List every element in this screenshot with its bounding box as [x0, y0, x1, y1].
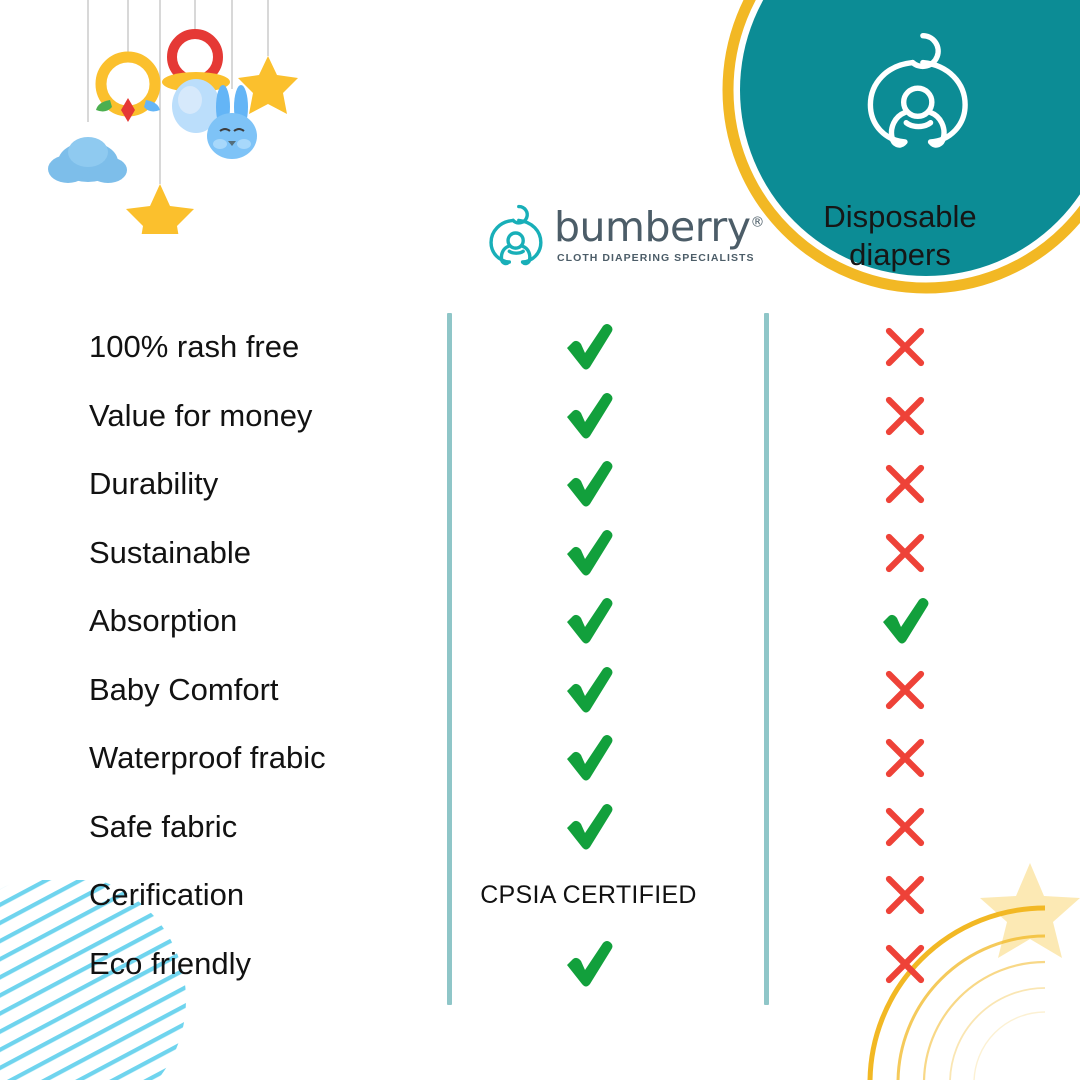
comparison-infographic: bumberry® CLOTH DIAPERING SPECIALISTS Di…: [0, 0, 1080, 1080]
check-icon: [563, 393, 615, 439]
bumberry-cell: [430, 804, 747, 850]
table-row: Baby Comfort: [0, 656, 1080, 725]
yellow-rattle-ring-icon: [96, 57, 160, 122]
blue-cloud-icon: [48, 137, 127, 183]
bumberry-logo-icon: [486, 200, 544, 271]
check-icon: [563, 461, 615, 507]
cross-icon: [883, 873, 927, 917]
bumberry-cell: [430, 530, 747, 576]
disposable-cell: [747, 598, 1063, 644]
check-icon: [563, 735, 615, 781]
table-row: Absorption: [0, 587, 1080, 656]
check-icon: [563, 598, 615, 644]
brand-name: bumberry®: [554, 207, 764, 248]
bumberry-cell: [430, 598, 747, 644]
disposable-cell: [747, 942, 1063, 986]
check-icon: [563, 804, 615, 850]
cross-icon: [883, 531, 927, 575]
cross-icon: [883, 736, 927, 780]
comparison-table: 100% rash freeValue for moneyDurabilityS…: [0, 313, 1080, 998]
table-row: CerificationCPSIA CERTIFIED: [0, 861, 1080, 930]
registered-trademark-icon: ®: [750, 215, 764, 231]
competitor-column-title: Disposable diapers: [770, 198, 1030, 275]
bumberry-cell: CPSIA CERTIFIED: [430, 881, 747, 910]
table-row: Safe fabric: [0, 793, 1080, 862]
disposable-cell: [747, 736, 1063, 780]
cross-icon: [883, 668, 927, 712]
feature-label: 100% rash free: [0, 329, 430, 365]
table-row: 100% rash free: [0, 313, 1080, 382]
check-icon: [563, 530, 615, 576]
competitor-title-line1: Disposable: [770, 198, 1030, 236]
disposable-cell: [747, 394, 1063, 438]
check-icon: [563, 667, 615, 713]
feature-label: Durability: [0, 466, 430, 502]
disposable-cell: [747, 462, 1063, 506]
table-row: Waterproof frabic: [0, 724, 1080, 793]
hanging-baby-mobile: [40, 0, 330, 239]
cross-icon: [883, 942, 927, 986]
cross-icon: [883, 325, 927, 369]
brand-tagline: CLOTH DIAPERING SPECIALISTS: [557, 253, 764, 264]
disposable-cell: [747, 668, 1063, 712]
certification-text: CPSIA CERTIFIED: [480, 881, 697, 910]
bumberry-cell: [430, 393, 747, 439]
disposable-cell: [747, 325, 1063, 369]
table-row: Eco friendly: [0, 930, 1080, 999]
feature-label: Sustainable: [0, 535, 430, 571]
disposable-cell: [747, 873, 1063, 917]
feature-label: Waterproof frabic: [0, 740, 430, 776]
feature-label: Cerification: [0, 877, 430, 913]
feature-label: Value for money: [0, 398, 430, 434]
table-row: Sustainable: [0, 519, 1080, 588]
mother-and-baby-icon: [870, 36, 965, 145]
feature-label: Absorption: [0, 603, 430, 639]
check-icon: [879, 598, 931, 644]
cross-icon: [883, 462, 927, 506]
blue-bunny-icon: [207, 85, 257, 159]
feature-label: Safe fabric: [0, 809, 430, 845]
disposable-cell: [747, 805, 1063, 849]
table-row: Durability: [0, 450, 1080, 519]
bumberry-cell: [430, 461, 747, 507]
check-icon: [563, 324, 615, 370]
cross-icon: [883, 394, 927, 438]
bumberry-cell: [430, 324, 747, 370]
bumberry-cell: [430, 667, 747, 713]
competitor-title-line2: diapers: [770, 236, 1030, 274]
feature-label: Eco friendly: [0, 946, 430, 982]
bumberry-cell: [430, 735, 747, 781]
red-pacifier-icon: [162, 34, 230, 133]
yellow-star-icon: [238, 56, 298, 114]
cross-icon: [883, 805, 927, 849]
feature-label: Baby Comfort: [0, 672, 430, 708]
yellow-star-icon: [126, 184, 194, 234]
disposable-cell: [747, 531, 1063, 575]
brand-logo: bumberry® CLOTH DIAPERING SPECIALISTS: [486, 200, 764, 271]
bumberry-cell: [430, 941, 747, 987]
check-icon: [563, 941, 615, 987]
table-row: Value for money: [0, 382, 1080, 451]
